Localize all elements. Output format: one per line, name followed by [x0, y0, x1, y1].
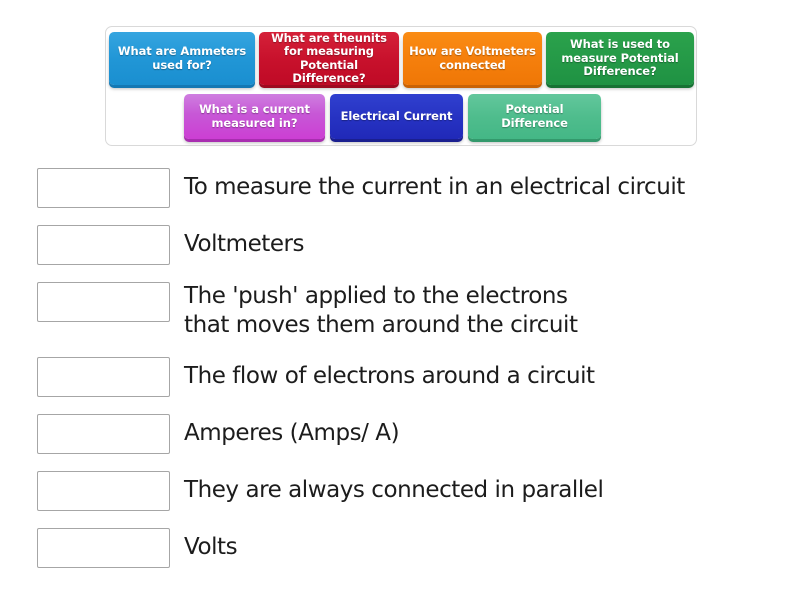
drop-zone-2[interactable] [37, 225, 170, 265]
tile-row-bottom: What is a current measured in? Electrica… [106, 85, 696, 139]
answer-text: They are always connected in parallel [184, 471, 800, 505]
tile-label: What are Ammeters used for? [115, 45, 249, 72]
tile-label: Potential Difference [474, 103, 595, 130]
drop-zone-6[interactable] [37, 471, 170, 511]
answer-row: Voltmeters [0, 225, 800, 265]
tile-label: What is used to measure Potential Differ… [552, 38, 688, 79]
tile-what-are-ammeters-used-for[interactable]: What are Ammeters used for? [109, 32, 255, 85]
tile-tray: What are Ammeters used for? What are the… [105, 26, 697, 146]
tile-label: What are theunits for measuring Potentia… [265, 32, 393, 86]
answer-text: Voltmeters [184, 225, 800, 259]
answer-text: The flow of electrons around a circuit [184, 357, 800, 391]
answer-row: They are always connected in parallel [0, 471, 800, 511]
tile-potential-difference[interactable]: Potential Difference [468, 94, 601, 139]
drop-zone-5[interactable] [37, 414, 170, 454]
answer-row: The 'push' applied to the electrons that… [0, 282, 800, 340]
answer-list: To measure the current in an electrical … [0, 168, 800, 585]
tile-label: Electrical Current [336, 110, 457, 124]
answer-text: The 'push' applied to the electrons that… [184, 282, 800, 340]
tile-row-top: What are Ammeters used for? What are the… [106, 27, 696, 85]
answer-text: To measure the current in an electrical … [184, 168, 800, 202]
answer-row: To measure the current in an electrical … [0, 168, 800, 208]
drop-zone-7[interactable] [37, 528, 170, 568]
answer-row: Volts [0, 528, 800, 568]
tile-electrical-current[interactable]: Electrical Current [330, 94, 463, 139]
answer-text: Amperes (Amps/ A) [184, 414, 800, 448]
tile-label: What is a current measured in? [190, 103, 319, 130]
answer-text: Volts [184, 528, 800, 562]
tile-what-is-a-current-measured-in[interactable]: What is a current measured in? [184, 94, 325, 139]
drop-zone-4[interactable] [37, 357, 170, 397]
answer-row: Amperes (Amps/ A) [0, 414, 800, 454]
drop-zone-1[interactable] [37, 168, 170, 208]
tile-label: How are Voltmeters connected [409, 45, 536, 72]
tile-what-are-the-units-for-measuring-potential-difference[interactable]: What are theunits for measuring Potentia… [259, 32, 399, 85]
drop-zone-3[interactable] [37, 282, 170, 322]
answer-row: The flow of electrons around a circuit [0, 357, 800, 397]
tile-what-is-used-to-measure-potential-difference[interactable]: What is used to measure Potential Differ… [546, 32, 694, 85]
tile-how-are-voltmeters-connected[interactable]: How are Voltmeters connected [403, 32, 542, 85]
